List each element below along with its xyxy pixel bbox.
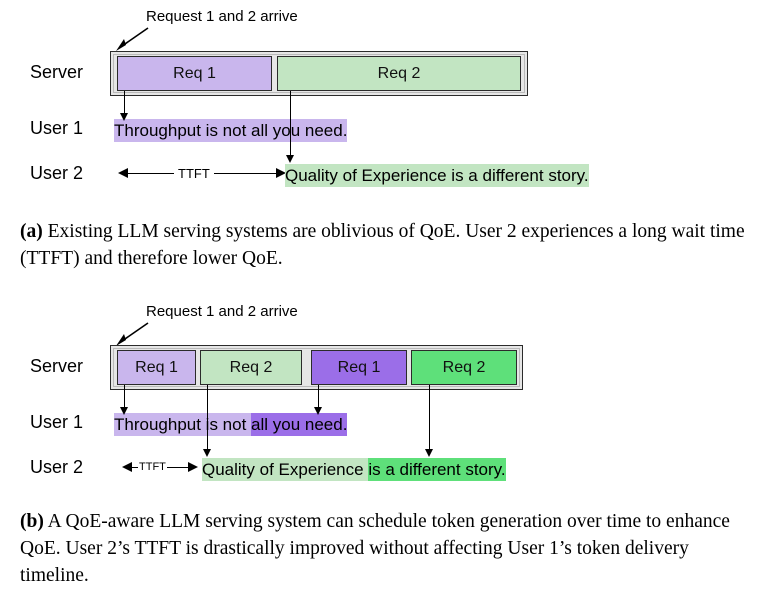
token-segment-2: all you need. — [251, 413, 347, 436]
connector-line-b-req2b — [429, 385, 430, 453]
token-segment-2: is a different story. — [368, 458, 505, 481]
row-label-user1-a: User 1 — [30, 118, 83, 139]
request-block-b-3[interactable]: Req 1 — [311, 350, 407, 385]
token-stream-user2-a: Quality of Experience is a different sto… — [285, 164, 589, 187]
annotation-request-arrive-b: Request 1 and 2 arrive — [146, 303, 298, 320]
ttft-arrowhead-left — [122, 462, 132, 472]
token-segment-1: Throughput is not all you need. — [114, 119, 347, 142]
request-block-b-2[interactable]: Req 2 — [200, 350, 302, 385]
caption-a-marker: (a) — [20, 221, 43, 242]
connector-arrowhead-b-req1a — [120, 407, 128, 415]
figure-a-diagram: Request 1 and 2 arrive Server Req 1 Req … — [0, 0, 767, 210]
caption-b-text: A QoE-aware LLM serving system can sched… — [20, 511, 730, 586]
row-label-user1-b: User 1 — [30, 412, 83, 433]
connector-arrowhead-b-req2a — [203, 449, 211, 457]
request-block-label: Req 2 — [230, 359, 273, 377]
request-block-label: Req 1 — [173, 65, 216, 83]
request-block-label: Req 1 — [338, 359, 381, 377]
token-stream-user1-b: Throughput is not all you need. — [114, 413, 347, 436]
caption-b-marker: (b) — [20, 511, 44, 532]
request-block-b-4[interactable]: Req 2 — [411, 350, 517, 385]
figure-b-diagram: Request 1 and 2 arrive Server Req 1 Req … — [0, 290, 767, 490]
row-label-user2-b: User 2 — [30, 457, 83, 478]
request-block-label: Req 2 — [378, 65, 421, 83]
caption-a-text: Existing LLM serving systems are oblivio… — [20, 221, 745, 269]
row-label-user2-a: User 2 — [30, 163, 83, 184]
arrow-request-arrive-a — [112, 25, 152, 53]
caption-b: (b) A QoE-aware LLM serving system can s… — [20, 508, 748, 589]
request-block-a-1[interactable]: Req 1 — [117, 56, 272, 91]
ttft-label: TTFT — [138, 461, 167, 473]
annotation-request-arrive-a: Request 1 and 2 arrive — [146, 8, 298, 25]
token-segment-1: Quality of Experience — [202, 458, 368, 481]
ttft-measure-a: TTFT — [118, 164, 286, 184]
row-label-server-b: Server — [30, 356, 83, 377]
caption-a: (a) Existing LLM serving systems are obl… — [20, 218, 748, 272]
connector-arrowhead-a-req1 — [120, 113, 128, 121]
row-label-server-a: Server — [30, 62, 83, 83]
ttft-arrowhead-right — [188, 462, 198, 472]
request-block-a-2[interactable]: Req 2 — [277, 56, 521, 91]
connector-arrowhead-a-req2 — [286, 155, 294, 163]
connector-arrowhead-b-req2b — [425, 449, 433, 457]
request-block-b-1[interactable]: Req 1 — [117, 350, 196, 385]
arrow-request-arrive-b — [112, 320, 152, 348]
request-block-label: Req 1 — [135, 359, 178, 377]
ttft-measure-b: TTFT — [122, 458, 202, 478]
token-segment-1: Quality of Experience is a different sto… — [285, 164, 589, 187]
token-stream-user1-a: Throughput is not all you need. — [114, 119, 347, 142]
ttft-arrowhead-left — [118, 168, 128, 178]
ttft-label: TTFT — [174, 166, 214, 181]
connector-arrowhead-b-req1b — [314, 407, 322, 415]
request-block-label: Req 2 — [443, 359, 486, 377]
token-stream-user2-b: Quality of Experience is a different sto… — [202, 458, 506, 481]
token-segment-1: Throughput is not — [114, 413, 251, 436]
connector-line-a-req2 — [290, 91, 291, 159]
connector-line-b-req2a — [207, 385, 208, 453]
